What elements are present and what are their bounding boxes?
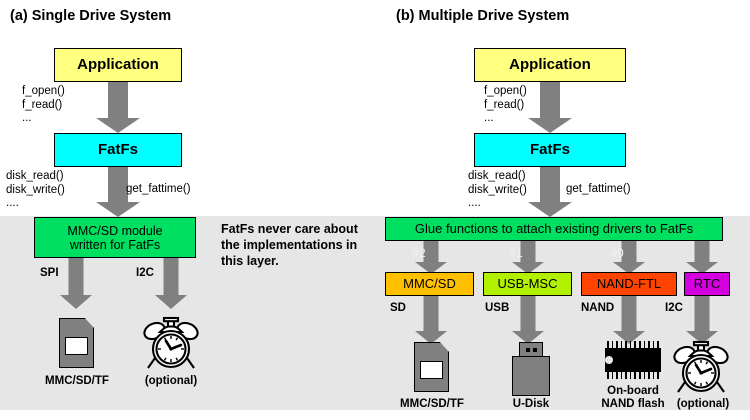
panel-b-driver-box-mmc-sd[interactable]: MMC/SD — [385, 272, 474, 296]
panel-b-bus-label-sd: SD — [390, 302, 406, 314]
alarm-clock-icon-panel-b — [672, 339, 730, 395]
panel-a-title: (a) Single Drive System — [10, 8, 171, 24]
panel-b-application-box[interactable]: Application — [474, 48, 626, 82]
alarm-clock-icon — [142, 315, 200, 371]
panel-b-glue-functions-box[interactable]: Glue functions to attach existing driver… — [385, 217, 723, 241]
panel-a-mmc-sd-module-box[interactable]: MMC/SD module written for FatFs — [34, 217, 196, 258]
panel-b-bus-label-i2c: I2C — [665, 302, 683, 314]
panel-b-device-label-sd: MMC/SD/TF — [394, 398, 470, 411]
panel-a-device-label-rtc: (optional) — [140, 375, 202, 388]
panel-b-arrow-sd-bus — [415, 296, 447, 346]
fatfs-architecture-diagram: (a) Single Drive System Application f_op… — [0, 0, 750, 420]
panel-b-device-label-rtc: (optional) — [672, 398, 734, 411]
nand-flash-chip-icon — [605, 341, 661, 379]
panel-a-arrow-app-to-fatfs — [96, 82, 140, 133]
panel-b-driver-box-usb-msc[interactable]: USB-MSC — [483, 272, 572, 296]
usb-flash-drive-icon — [512, 342, 550, 396]
panel-a-fatfs-box[interactable]: FatFs — [54, 133, 182, 167]
panel-b-bus-label-nand: NAND — [581, 302, 614, 314]
panel-a-application-box[interactable]: Application — [54, 48, 182, 82]
panel-a-device-label-sd: MMC/SD/TF — [40, 375, 114, 388]
panel-a-disk-call-labels: disk_read() disk_write() .... — [6, 170, 65, 211]
panel-b-drive-number-0: #0 — [602, 246, 632, 260]
panel-b-driver-box-rtc[interactable]: RTC — [684, 272, 730, 296]
panel-b-device-label-nand: On-board NAND flash — [592, 385, 674, 410]
panel-b-device-label-usb: U-Disk — [496, 398, 566, 411]
panel-b-title: (b) Multiple Drive System — [396, 8, 569, 24]
panel-b-bus-label-usb: USB — [485, 302, 509, 314]
panel-b-arrow-usb-bus — [512, 296, 544, 346]
panel-b-arrow-nand-bus — [613, 296, 645, 346]
panel-b-drive-number-2: #2 — [404, 246, 434, 260]
sd-card-icon — [59, 318, 94, 368]
sd-card-icon-panel-b — [414, 342, 449, 392]
panel-a-arrow-spi — [60, 258, 92, 312]
panel-b-driver-box-nand-ftl[interactable]: NAND-FTL — [581, 272, 677, 296]
panel-a-bus-label-spi: SPI — [40, 267, 59, 279]
implementation-layer-note: FatFs never care about the implementatio… — [221, 221, 358, 269]
panel-a-app-call-labels: f_open() f_read() ... — [22, 85, 65, 126]
panel-b-app-call-labels: f_open() f_read() ... — [484, 85, 527, 126]
panel-a-get-fattime-label: get_fattime() — [126, 183, 191, 197]
panel-b-arrow-app-to-fatfs — [528, 82, 572, 133]
panel-b-disk-call-labels: disk_read() disk_write() .... — [468, 170, 527, 211]
panel-a-bus-label-i2c: I2C — [136, 267, 154, 279]
panel-b-drive-number-1: #1 — [501, 246, 531, 260]
panel-b-get-fattime-label: get_fattime() — [566, 183, 631, 197]
panel-b-arrow-glue-to-rtc — [686, 241, 718, 274]
panel-b-fatfs-box[interactable]: FatFs — [474, 133, 626, 167]
panel-a-arrow-i2c — [155, 258, 187, 312]
